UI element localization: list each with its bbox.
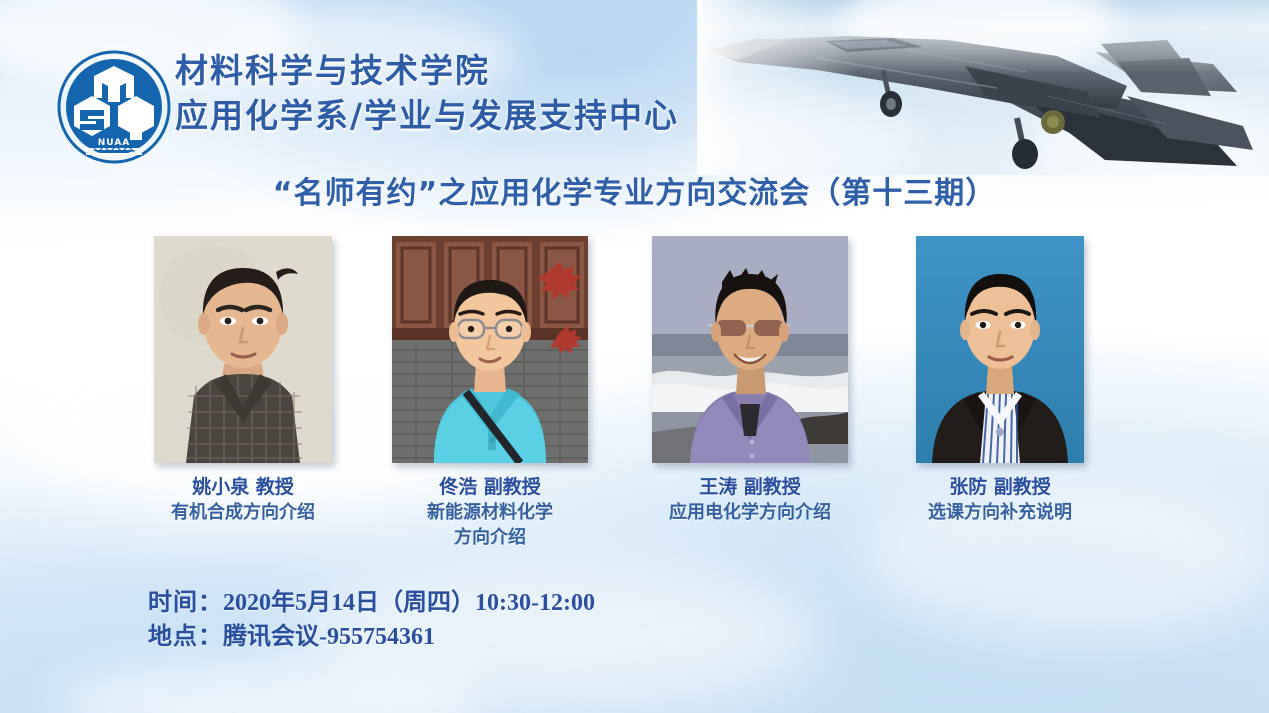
- speaker-name: 张防 副教授: [900, 474, 1100, 500]
- speaker-topic: 应用电化学方向介绍: [650, 500, 850, 525]
- speaker-name: 姚小泉 教授: [143, 474, 343, 500]
- speaker-topic-line2: 方向介绍: [390, 525, 590, 550]
- event-place-row: 地点：腾讯会议-955754361: [148, 620, 595, 654]
- event-info: 时间：2020年5月14日（周四）10:30-12:00 地点：腾讯会议-955…: [148, 586, 595, 654]
- portrait-wang-tao: [652, 236, 848, 463]
- speaker-card: 张防 副教授 选课方向补充说明: [900, 236, 1100, 525]
- fighter-jet-illustration: [697, 0, 1269, 175]
- speaker-card: 佟浩 副教授 新能源材料化学 方向介绍: [390, 236, 590, 550]
- university-emblem-icon: NUAA: [52, 48, 176, 166]
- portrait-illustration: [652, 236, 848, 463]
- speaker-caption: 王涛 副教授 应用电化学方向介绍: [650, 474, 850, 525]
- cloud-decor: [60, 660, 480, 713]
- time-value: 2020年5月14日（周四）10:30-12:00: [223, 590, 595, 616]
- org-line-2: 应用化学系/学业与发展支持中心: [175, 93, 679, 138]
- time-label: 时间：: [148, 588, 223, 616]
- speaker-name: 佟浩 副教授: [390, 474, 590, 500]
- poster-canvas: NUAA 材料科学与技术学院 应用化学系/学业与发展支持中心 “名师有约”之应用…: [0, 0, 1269, 713]
- speaker-topic: 有机合成方向介绍: [143, 500, 343, 525]
- portrait-illustration: [392, 236, 588, 463]
- org-header: 材料科学与技术学院 应用化学系/学业与发展支持中心: [175, 48, 679, 138]
- portrait-yao-xiaoquan: [154, 236, 332, 463]
- fighter-jet-photo: [697, 0, 1269, 175]
- place-value: 腾讯会议-955754361: [223, 624, 435, 650]
- portrait-tong-hao: [392, 236, 588, 463]
- speaker-topic: 选课方向补充说明: [900, 500, 1100, 525]
- speaker-topic: 新能源材料化学: [390, 500, 590, 525]
- speaker-caption: 张防 副教授 选课方向补充说明: [900, 474, 1100, 525]
- event-time-row: 时间：2020年5月14日（周四）10:30-12:00: [148, 586, 595, 620]
- place-label: 地点：: [148, 622, 223, 650]
- speaker-card: 姚小泉 教授 有机合成方向介绍: [143, 236, 343, 525]
- speaker-list: 姚小泉 教授 有机合成方向介绍: [0, 236, 1269, 566]
- org-line-1: 材料科学与技术学院: [175, 48, 679, 93]
- speaker-caption: 佟浩 副教授 新能源材料化学 方向介绍: [390, 474, 590, 550]
- speaker-name: 王涛 副教授: [650, 474, 850, 500]
- portrait-illustration: [154, 236, 332, 463]
- portrait-illustration: [916, 236, 1084, 463]
- speaker-card: 王涛 副教授 应用电化学方向介绍: [650, 236, 850, 525]
- speaker-caption: 姚小泉 教授 有机合成方向介绍: [143, 474, 343, 525]
- page-title: “名师有约”之应用化学专业方向交流会（第十三期）: [0, 168, 1269, 212]
- portrait-zhang-fang: [916, 236, 1084, 463]
